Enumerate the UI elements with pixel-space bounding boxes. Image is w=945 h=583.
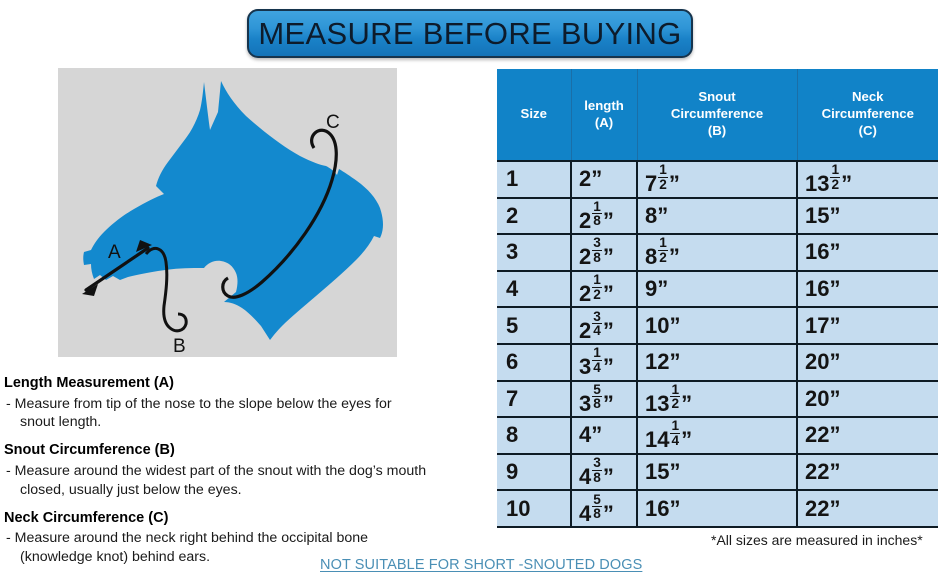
cell-neck: 16” (797, 234, 938, 271)
cell-neck: 1312” (797, 161, 938, 198)
cell-snout-2-whole: 8 (645, 203, 657, 228)
cell-snout: 16” (637, 490, 797, 527)
cell-length-2-inch-mark: ” (603, 208, 614, 233)
cell-length: 4” (571, 417, 637, 454)
cell-neck-9-whole: 22 (805, 459, 829, 484)
cell-length-4-fraction: 12 (592, 273, 602, 301)
instructions-block: Length Measurement (A) - Measure from ti… (4, 374, 494, 576)
cell-snout-8-whole: 14 (645, 428, 669, 453)
dog-measurement-diagram: A B C (58, 68, 397, 357)
cell-length-5-whole: 2 (579, 318, 591, 343)
cell-snout-3-whole: 8 (645, 245, 657, 270)
cell-length-7-fraction: 58 (592, 383, 602, 411)
cell-neck-10-whole: 22 (805, 496, 829, 521)
header-neck-line1: Neck (852, 89, 884, 104)
table-row: 6314”12”20” (497, 344, 938, 381)
instruction-heading-length: Length Measurement (A) (4, 374, 494, 394)
cell-snout-2-inch-mark: ” (657, 203, 668, 228)
title-banner: MEASURE BEFORE BUYING (247, 9, 693, 58)
cell-length: 358” (571, 381, 637, 418)
cell-length-7-inch-mark: ” (603, 391, 614, 416)
cell-length-10-whole: 4 (579, 501, 591, 526)
cell-length-10-fraction: 58 (592, 493, 602, 521)
cell-length-6-whole: 3 (579, 354, 591, 379)
cell-neck: 20” (797, 381, 938, 418)
label-c: C (326, 112, 340, 133)
cell-snout: 8” (637, 198, 797, 235)
cell-neck-2-inch-mark: ” (829, 203, 840, 228)
cell-length: 458” (571, 490, 637, 527)
cell-neck-5-inch-mark: ” (829, 313, 840, 338)
cell-size: 6 (497, 344, 571, 381)
cell-neck-1-inch-mark: ” (841, 171, 852, 196)
cell-snout: 10” (637, 307, 797, 344)
cell-neck: 20” (797, 344, 938, 381)
instruction-body-length: - Measure from tip of the nose to the sl… (4, 395, 494, 433)
page-title: MEASURE BEFORE BUYING (258, 16, 681, 52)
cell-size: 4 (497, 271, 571, 308)
cell-neck-7-whole: 20 (805, 386, 829, 411)
cell-snout-8-inch-mark: ” (681, 428, 692, 453)
cell-snout-9-inch-mark: ” (669, 459, 680, 484)
cell-length-7-whole: 3 (579, 391, 591, 416)
instruction-neck-line1: - Measure around the neck right behind t… (6, 530, 368, 546)
cell-length-5-inch-mark: ” (603, 318, 614, 343)
cell-size: 2 (497, 198, 571, 235)
cell-length-8-inch-mark: ” (591, 422, 602, 447)
cell-neck-8-whole: 22 (805, 422, 829, 447)
cell-length: 314” (571, 344, 637, 381)
cell-size: 5 (497, 307, 571, 344)
cell-length-6-fraction: 14 (592, 346, 602, 374)
cell-snout-6-whole: 12 (645, 349, 669, 374)
label-b: B (173, 336, 186, 357)
cell-snout-7-whole: 13 (645, 391, 669, 416)
cell-length-3-fraction: 38 (592, 236, 602, 264)
cell-snout-3-fraction: 12 (658, 236, 668, 264)
cell-length-9-whole: 4 (579, 464, 591, 489)
cell-neck-1-fraction: 12 (830, 163, 840, 191)
cell-neck-6-inch-mark: ” (829, 349, 840, 374)
cell-snout: 1414” (637, 417, 797, 454)
cell-neck-5-whole: 17 (805, 313, 829, 338)
cell-snout: 812” (637, 234, 797, 271)
header-snout-line1: Snout (698, 89, 735, 104)
cell-length-2-fraction: 18 (592, 200, 602, 228)
cell-length-4-whole: 2 (579, 281, 591, 306)
size-chart-table: Size length (A) Snout Circumference (B) … (497, 69, 938, 528)
cell-neck-4-inch-mark: ” (829, 276, 840, 301)
cell-snout-7-fraction: 12 (670, 383, 680, 411)
header-neck-line2: Circumference (822, 106, 914, 121)
instruction-length-line2: snout length. (6, 413, 494, 432)
instruction-group-length: Length Measurement (A) - Measure from ti… (4, 374, 494, 432)
header-size-line1: Size (521, 106, 547, 121)
dog-diagram-svg: A B C (58, 68, 397, 357)
label-a: A (108, 242, 121, 263)
cell-neck-3-whole: 16 (805, 239, 829, 264)
cell-neck: 16” (797, 271, 938, 308)
cell-length-3-whole: 2 (579, 245, 591, 270)
instruction-length-line1: - Measure from tip of the nose to the sl… (6, 396, 392, 412)
cell-size: 7 (497, 381, 571, 418)
cell-neck-6-whole: 20 (805, 349, 829, 374)
table-row: 3238”812”16” (497, 234, 938, 271)
cell-length-6-inch-mark: ” (603, 354, 614, 379)
table-row: 12”712”1312” (497, 161, 938, 198)
cell-size: 3 (497, 234, 571, 271)
cell-size: 1 (497, 161, 571, 198)
cell-snout-9-whole: 15 (645, 459, 669, 484)
header-snout-line3: (B) (708, 123, 726, 138)
header-neck-line3: (C) (859, 123, 877, 138)
cell-length-1-inch-mark: ” (591, 166, 602, 191)
cell-snout-5-whole: 10 (645, 313, 669, 338)
not-suitable-notice: NOT SUITABLE FOR SHORT -SNOUTED DOGS (320, 557, 642, 573)
table-row: 2218”8”15” (497, 198, 938, 235)
cell-snout-10-whole: 16 (645, 496, 669, 521)
header-row: Size length (A) Snout Circumference (B) … (497, 69, 938, 161)
cell-neck-10-inch-mark: ” (829, 496, 840, 521)
cell-snout-6-inch-mark: ” (669, 349, 680, 374)
cell-length: 212” (571, 271, 637, 308)
table-row: 9438”15”22” (497, 454, 938, 491)
column-header-size: Size (497, 69, 571, 161)
table-row: 10458”16”22” (497, 490, 938, 527)
cell-snout: 15” (637, 454, 797, 491)
cell-neck-1-whole: 13 (805, 171, 829, 196)
cell-length: 2” (571, 161, 637, 198)
instruction-snout-line2: closed, usually just below the eyes. (6, 481, 494, 500)
cell-length: 438” (571, 454, 637, 491)
cell-neck-4-whole: 16 (805, 276, 829, 301)
cell-snout-1-inch-mark: ” (669, 171, 680, 196)
cell-snout-1-whole: 7 (645, 171, 657, 196)
column-header-length: length (A) (571, 69, 637, 161)
header-length-line1: length (584, 98, 624, 113)
cell-neck-9-inch-mark: ” (829, 459, 840, 484)
cell-size: 8 (497, 417, 571, 454)
cell-neck: 22” (797, 417, 938, 454)
size-chart-body: 12”712”1312”2218”8”15”3238”812”16”4212”9… (497, 161, 938, 527)
cell-neck: 22” (797, 454, 938, 491)
cell-size: 10 (497, 490, 571, 527)
cell-length-8-whole: 4 (579, 422, 591, 447)
cell-neck-2-whole: 15 (805, 203, 829, 228)
cell-length-5-fraction: 34 (592, 310, 602, 338)
column-header-snout: Snout Circumference (B) (637, 69, 797, 161)
instruction-snout-line1: - Measure around the widest part of the … (6, 463, 426, 479)
table-row: 7358”1312”20” (497, 381, 938, 418)
cell-snout-5-inch-mark: ” (669, 313, 680, 338)
column-header-neck: Neck Circumference (C) (797, 69, 938, 161)
table-row: 5234”10”17” (497, 307, 938, 344)
cell-snout: 9” (637, 271, 797, 308)
cell-length-9-inch-mark: ” (603, 464, 614, 489)
cell-snout: 12” (637, 344, 797, 381)
cell-neck: 22” (797, 490, 938, 527)
cell-length: 218” (571, 198, 637, 235)
cell-snout: 1312” (637, 381, 797, 418)
instruction-body-snout: - Measure around the widest part of the … (4, 462, 494, 500)
cell-snout-7-inch-mark: ” (681, 391, 692, 416)
cell-neck: 17” (797, 307, 938, 344)
cell-snout-1-fraction: 12 (658, 163, 668, 191)
cell-snout-8-fraction: 14 (670, 419, 680, 447)
cell-length-1-whole: 2 (579, 166, 591, 191)
cell-length-4-inch-mark: ” (603, 281, 614, 306)
cell-neck: 15” (797, 198, 938, 235)
header-length-line2: (A) (595, 115, 613, 130)
header-snout-line2: Circumference (671, 106, 763, 121)
cell-snout: 712” (637, 161, 797, 198)
cell-length: 238” (571, 234, 637, 271)
cell-neck-7-inch-mark: ” (829, 386, 840, 411)
instruction-group-snout: Snout Circumference (B) - Measure around… (4, 441, 494, 499)
cell-length-9-fraction: 38 (592, 456, 602, 484)
cell-snout-4-whole: 9 (645, 276, 657, 301)
table-row: 4212”9”16” (497, 271, 938, 308)
cell-snout-4-inch-mark: ” (657, 276, 668, 301)
inches-note: *All sizes are measured in inches* (711, 532, 923, 548)
cell-snout-3-inch-mark: ” (669, 245, 680, 270)
cell-neck-8-inch-mark: ” (829, 422, 840, 447)
cell-size: 9 (497, 454, 571, 491)
size-chart-header: Size length (A) Snout Circumference (B) … (497, 69, 938, 161)
instruction-heading-snout: Snout Circumference (B) (4, 441, 494, 461)
cell-length-3-inch-mark: ” (603, 245, 614, 270)
cell-length-2-whole: 2 (579, 208, 591, 233)
table-row: 84”1414”22” (497, 417, 938, 454)
cell-neck-3-inch-mark: ” (829, 239, 840, 264)
cell-length: 234” (571, 307, 637, 344)
instruction-heading-neck: Neck Circumference (C) (4, 509, 494, 529)
cell-length-10-inch-mark: ” (603, 501, 614, 526)
cell-snout-10-inch-mark: ” (669, 496, 680, 521)
